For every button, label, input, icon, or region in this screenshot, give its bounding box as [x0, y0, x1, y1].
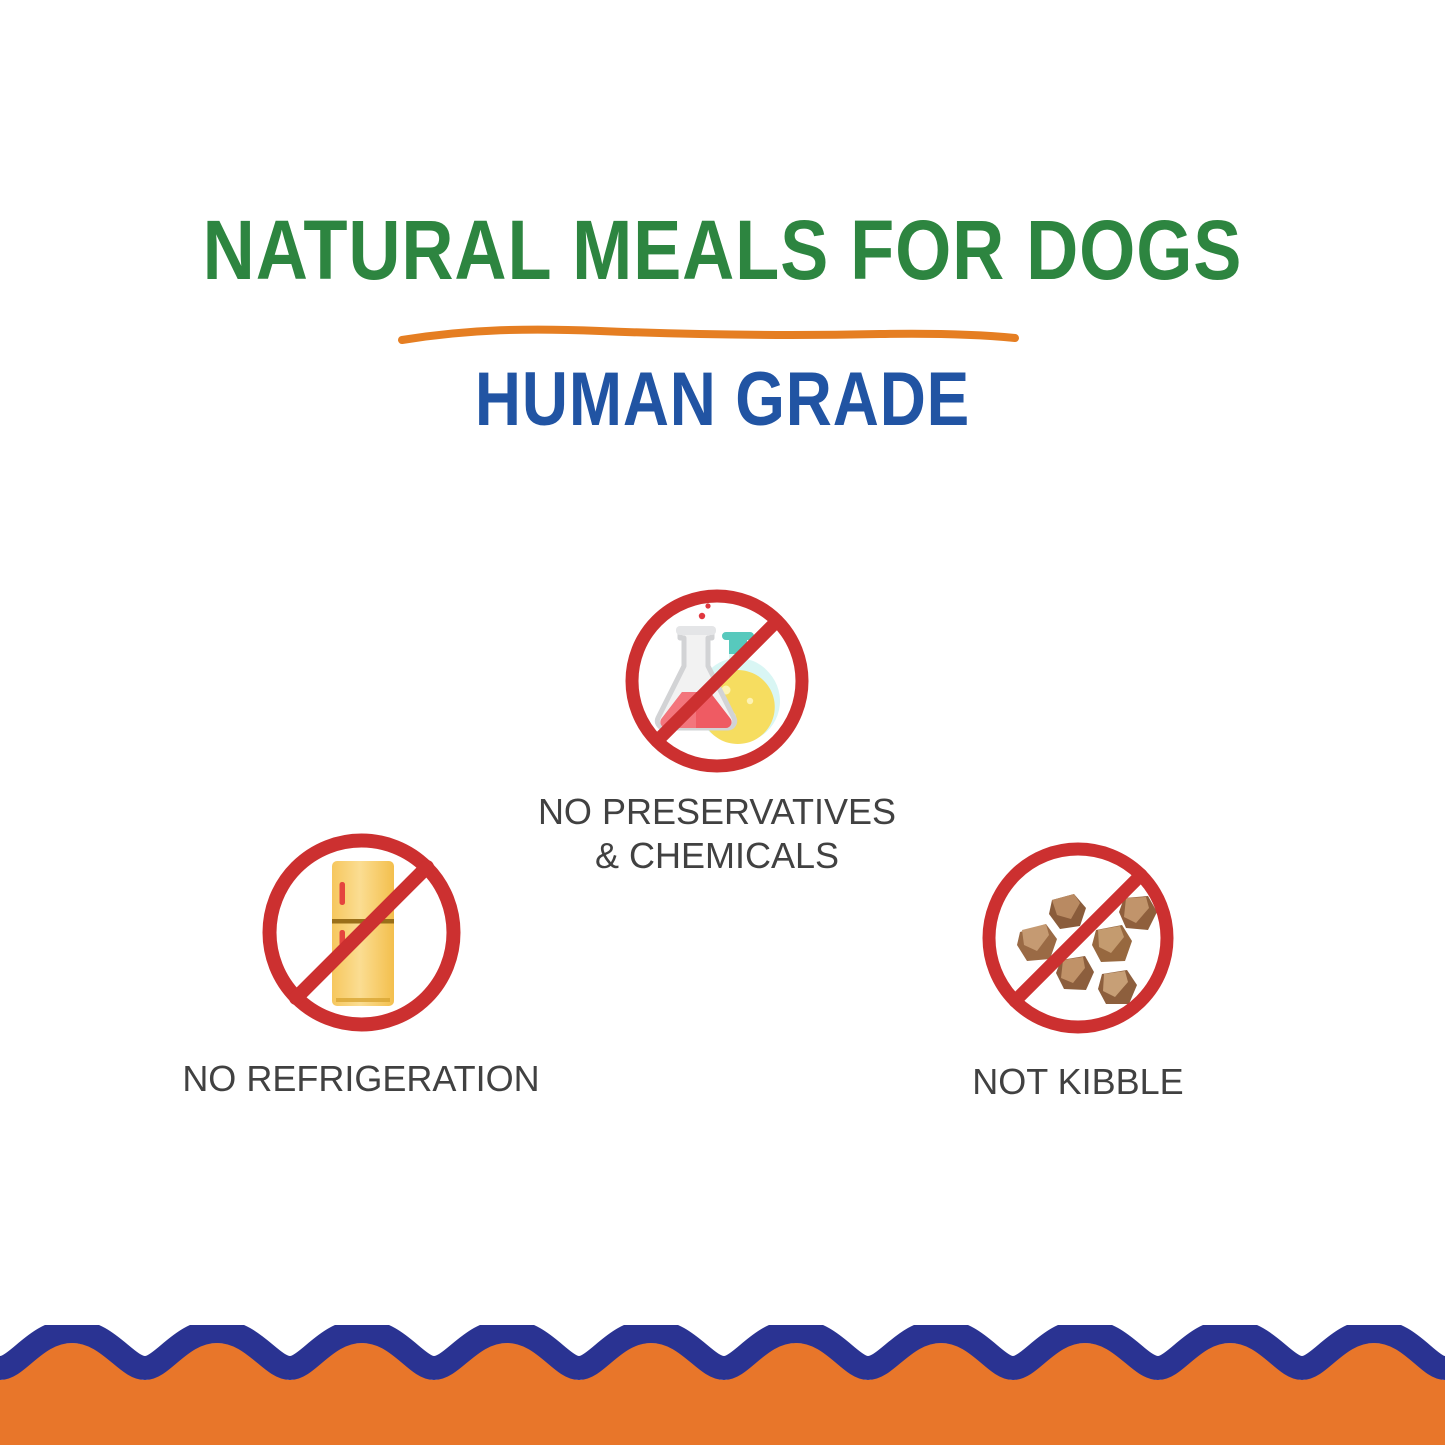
- footer-wave-decoration: [0, 1325, 1445, 1445]
- title-divider: [0, 322, 1445, 352]
- page-title: NATURAL MEALS FOR DOGS: [101, 208, 1344, 292]
- feature-caption: NO REFRIGERATION: [96, 1057, 626, 1101]
- no-refrigerator-icon: [259, 830, 464, 1035]
- no-chemicals-icon: [622, 586, 812, 776]
- page-subtitle: HUMAN GRADE: [116, 362, 1330, 438]
- feature-no-refrigeration: NO REFRIGERATION: [96, 830, 626, 1101]
- feature-caption: NOT KIBBLE: [813, 1060, 1343, 1104]
- wavy-orange-rule: [402, 330, 1015, 340]
- feature-not-kibble: NOT KIBBLE: [813, 838, 1343, 1104]
- kibble-pieces: [1017, 894, 1157, 1004]
- no-kibble-icon: [978, 838, 1178, 1038]
- promo-graphic: NATURAL MEALS FOR DOGS HUMAN GRADE: [0, 0, 1445, 1445]
